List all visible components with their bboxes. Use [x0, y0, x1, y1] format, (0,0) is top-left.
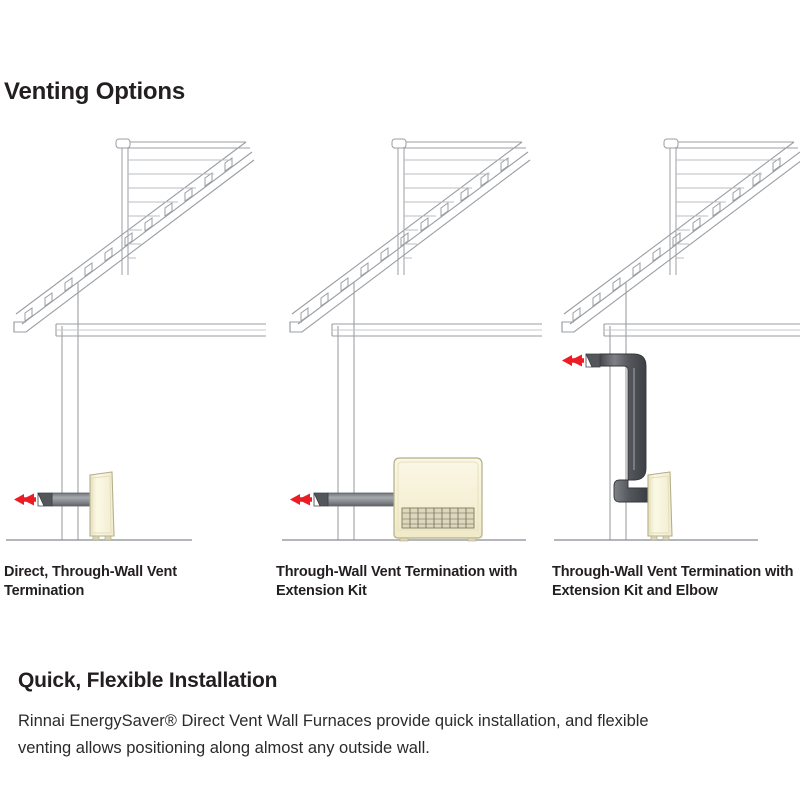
- roof-assembly: [14, 142, 254, 332]
- caption-diagram-1: Direct, Through-Wall Vent Termination: [4, 563, 254, 601]
- caption-diagram-2: Through-Wall Vent Termination with Exten…: [276, 563, 532, 601]
- furnace-unit: [648, 472, 672, 540]
- vent-terminal-cap: [586, 354, 600, 367]
- vent-terminal-cap: [38, 493, 52, 506]
- roof-assembly: [290, 142, 530, 332]
- exhaust-arrow-left-icon: [562, 355, 584, 367]
- diagram-3-svg: [548, 130, 800, 550]
- venting-options-page: Venting Options: [0, 0, 800, 800]
- vent-pipe-extension: [328, 493, 396, 506]
- furnace-unit: [90, 472, 114, 540]
- furnace-unit-console: [394, 458, 482, 541]
- footer-paragraph: Rinnai EnergySaver® Direct Vent Wall Fur…: [18, 708, 673, 762]
- vent-pipe: [52, 493, 94, 506]
- diagram-direct-through-wall: [0, 130, 266, 550]
- diagram-1-svg: [0, 130, 266, 550]
- diagram-through-wall-extension-kit-elbow: [548, 130, 800, 550]
- page-title: Venting Options: [4, 78, 185, 106]
- vent-pipe-elbow: [600, 354, 648, 502]
- diagram-through-wall-extension-kit: [276, 130, 542, 550]
- diagram-2-svg: [276, 130, 542, 550]
- exhaust-arrow-left-icon: [290, 494, 312, 506]
- diagram-row: [0, 130, 800, 550]
- footer-heading: Quick, Flexible Installation: [18, 669, 277, 693]
- furnace-grille: [402, 508, 474, 528]
- caption-diagram-3: Through-Wall Vent Termination with Exten…: [552, 563, 800, 601]
- roof-assembly: [562, 142, 800, 332]
- vent-terminal-cap: [314, 493, 328, 506]
- exhaust-arrow-left-icon: [14, 494, 36, 506]
